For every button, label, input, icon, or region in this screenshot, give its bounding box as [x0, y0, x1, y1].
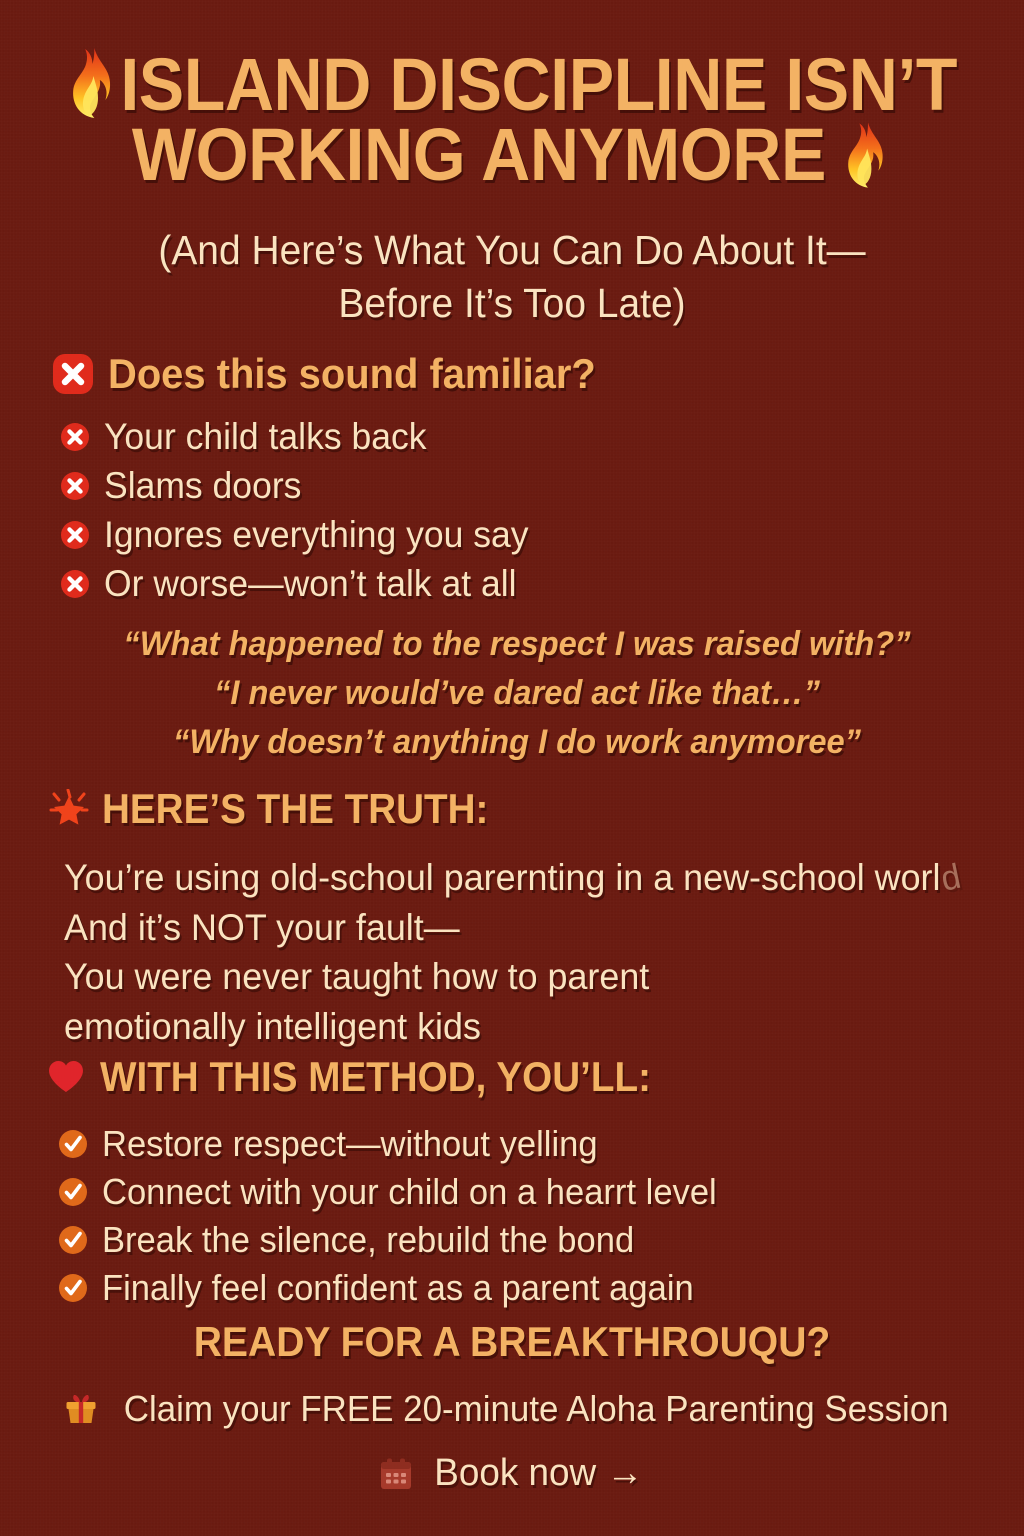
cta-claim-row[interactable]: Claim your FREE 20-minute Aloha Parentin…	[0, 1388, 1024, 1430]
quote-line: “What happened to the respect I was rais…	[73, 620, 960, 669]
list-item: Connect with your child on a hearrt leve…	[58, 1168, 742, 1216]
quotes-block: “What happened to the respect I was rais…	[73, 620, 960, 767]
subtitle: (And Here’s What You Can Do About It— Be…	[92, 224, 932, 331]
cta-book-row[interactable]: Book now →	[0, 1452, 1024, 1495]
cross-mark-icon	[60, 569, 90, 599]
truth-body: You’re using old-schoul parernting in a …	[64, 853, 1004, 1051]
problems-heading-row: Does this sound familiar?	[52, 350, 621, 398]
truth-heading-row: HERE’S THE TRUTH:	[48, 785, 522, 833]
cta-claim-label: Claim your FREE 20-minute Aloha Parentin…	[124, 1388, 949, 1430]
method-heading-label: WITH THIS METHOD, YOU’LL:	[100, 1053, 651, 1101]
truth-heading-label: HERE’S THE TRUTH:	[102, 785, 488, 833]
check-mark-icon	[58, 1273, 88, 1303]
truth-line-3: You were never taught how to parent	[64, 952, 976, 1002]
poster-canvas: ISLAND DISCIPLINE ISN’T WORKING ANYMORE …	[0, 0, 1024, 1536]
check-mark-icon	[58, 1129, 88, 1159]
truth-line-1: You’re using old-schoul parernting in a …	[64, 857, 940, 898]
list-item-label: Restore respect—without yelling	[102, 1126, 598, 1162]
quote-line: “I never would’ve dared act like that…”	[73, 669, 960, 718]
benefits-list: Restore respect—without yelling Connect …	[58, 1120, 742, 1312]
list-item: Finally feel confident as a parent again	[58, 1264, 742, 1312]
list-item-label: Or worse—won’t talk at all	[104, 565, 517, 602]
cta-book-label: Book now →	[434, 1452, 643, 1495]
list-item: Your child talks back	[60, 412, 546, 461]
subtitle-line-1: (And Here’s What You Can Do About It—	[158, 227, 865, 273]
list-item-label: Your child talks back	[104, 418, 427, 455]
list-item: Ignores everything you say	[60, 510, 546, 559]
cta-headline: READY FOR A BREAKTHROUQU?	[36, 1318, 988, 1366]
method-heading-row: WITH THIS METHOD, YOU’LL:	[46, 1053, 699, 1101]
list-item-label: Connect with your child on a hearrt leve…	[102, 1174, 717, 1210]
title-line-2: WORKING ANYMORE	[132, 113, 826, 196]
list-item-label: Ignores everything you say	[104, 516, 529, 553]
cross-mark-icon	[60, 422, 90, 452]
list-item: Break the silence, rebuild the bond	[58, 1216, 742, 1264]
check-mark-icon	[58, 1225, 88, 1255]
list-item: Slams doors	[60, 461, 546, 510]
cross-mark-icon	[52, 353, 94, 395]
cross-mark-icon	[60, 520, 90, 550]
cross-mark-icon	[60, 471, 90, 501]
list-item: Restore respect—without yelling	[58, 1120, 742, 1168]
star-burst-icon	[48, 789, 88, 829]
quote-line: “Why doesn’t anything I do work anymoree…	[73, 718, 960, 767]
gift-icon	[63, 1391, 99, 1427]
heart-icon	[46, 1057, 86, 1097]
check-mark-icon	[58, 1177, 88, 1207]
problems-list: Your child talks back Slams doors Ignore…	[60, 412, 546, 608]
fire-icon	[67, 46, 120, 120]
list-item-label: Finally feel confident as a parent again	[102, 1270, 694, 1306]
calendar-icon	[377, 1455, 415, 1493]
page-title: ISLAND DISCIPLINE ISN’T WORKING ANYMORE	[41, 46, 983, 191]
truth-line-4: emotionally intelligent kids	[64, 1002, 976, 1052]
list-item-label: Break the silence, rebuild the bond	[102, 1222, 634, 1258]
list-item: Or worse—won’t talk at all	[60, 559, 546, 608]
subtitle-line-2: Before It’s Too Late)	[338, 280, 685, 326]
list-item-label: Slams doors	[104, 467, 301, 504]
fire-icon	[842, 120, 892, 190]
problems-heading-label: Does this sound familiar?	[108, 350, 596, 398]
truth-line-2: And it’s NOT your fault—	[64, 903, 976, 953]
